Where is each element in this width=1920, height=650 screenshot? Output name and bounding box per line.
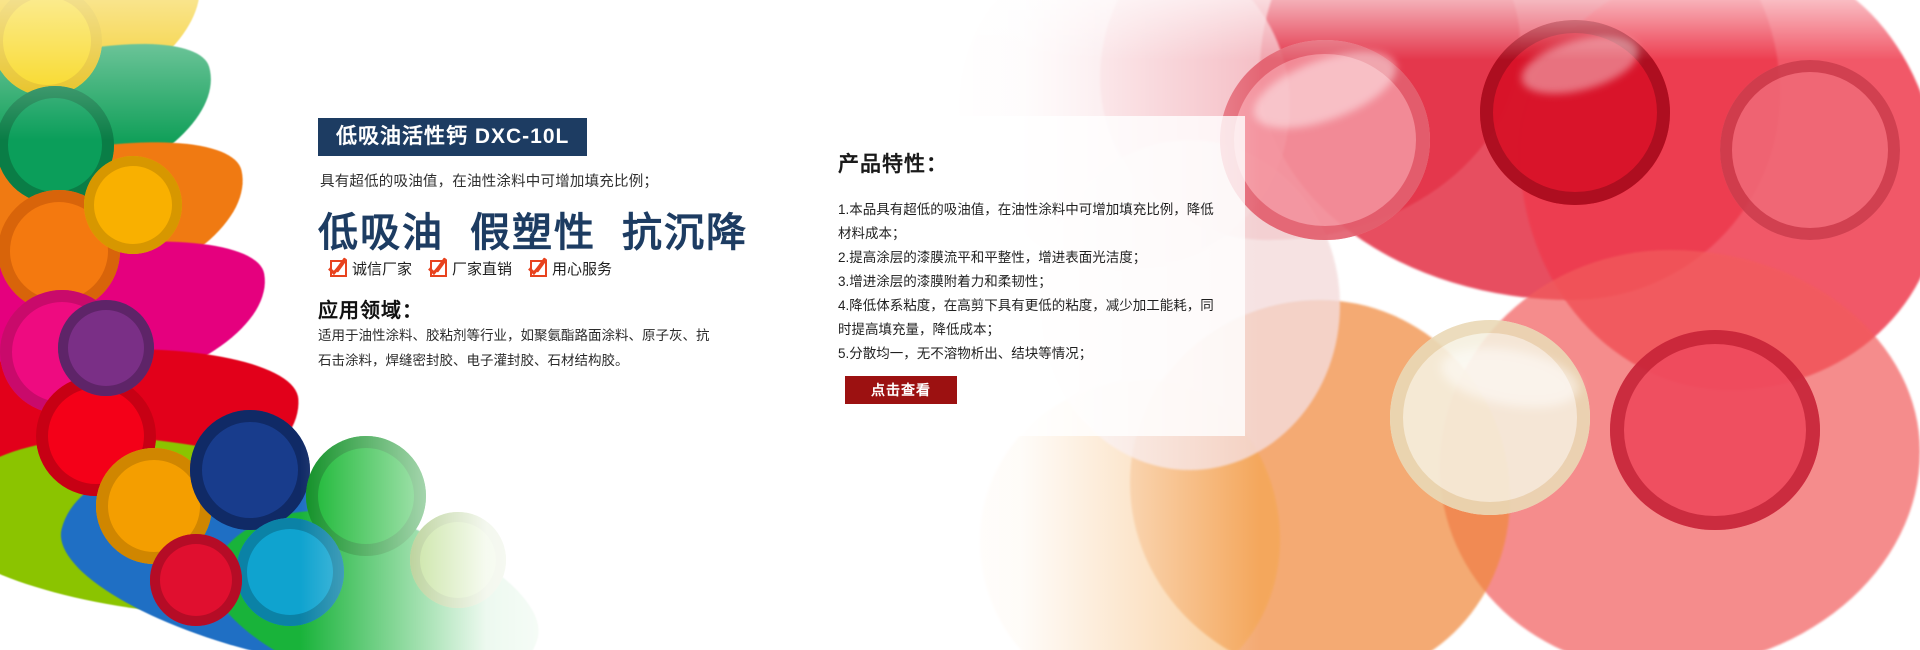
trust-badge-label: 用心服务 [552,258,612,279]
banner-content: 低吸油活性钙 DXC-10L 具有超低的吸油值，在油性涂料中可增加填充比例； 低… [0,0,1920,650]
product-headline: 低吸油假塑性抗沉降 [318,200,748,258]
check-square-icon [530,260,547,277]
trust-badge-3: 用心服务 [530,258,612,279]
trust-badge-1: 诚信厂家 [330,258,412,279]
trust-badge-label: 厂家直销 [452,258,512,279]
product-subtitle: 具有超低的吸油值，在油性涂料中可增加填充比例； [320,170,658,191]
view-details-button[interactable]: 点击查看 [845,376,957,404]
trust-badge-2: 厂家直销 [430,258,512,279]
feature-item: 1.本品具有超低的吸油值，在油性涂料中可增加填充比例，降低材料成本； [838,198,1216,246]
feature-item: 5.分散均一，无不溶物析出、结块等情况； [838,342,1216,366]
headline-word-3: 抗沉降 [622,210,748,255]
check-square-icon [330,260,347,277]
trust-badges: 诚信厂家 厂家直销 用心服务 [330,258,612,279]
banner-stage: 低吸油活性钙 DXC-10L 具有超低的吸油值，在油性涂料中可增加填充比例； 低… [0,0,1920,650]
headline-word-2: 假塑性 [470,210,596,255]
features-list: 1.本品具有超低的吸油值，在油性涂料中可增加填充比例，降低材料成本； 2.提高涂… [838,198,1216,366]
features-panel-title: 产品特性： [838,148,948,178]
trust-badge-label: 诚信厂家 [352,258,412,279]
feature-item: 4.降低体系粘度，在高剪下具有更低的粘度，减少加工能耗，同时提高填充量，降低成本… [838,294,1216,342]
product-title-badge: 低吸油活性钙 DXC-10L [318,118,587,156]
headline-word-1: 低吸油 [318,210,444,255]
application-section-title: 应用领域： [318,294,423,323]
check-square-icon [430,260,447,277]
feature-item: 3.增进涂层的漆膜附着力和柔韧性； [838,270,1216,294]
feature-item: 2.提高涂层的漆膜流平和平整性，增进表面光洁度； [838,246,1216,270]
application-section-body: 适用于油性涂料、胶粘剂等行业，如聚氨酯路面涂料、原子灰、抗石击涂料，焊缝密封胶、… [318,324,710,374]
